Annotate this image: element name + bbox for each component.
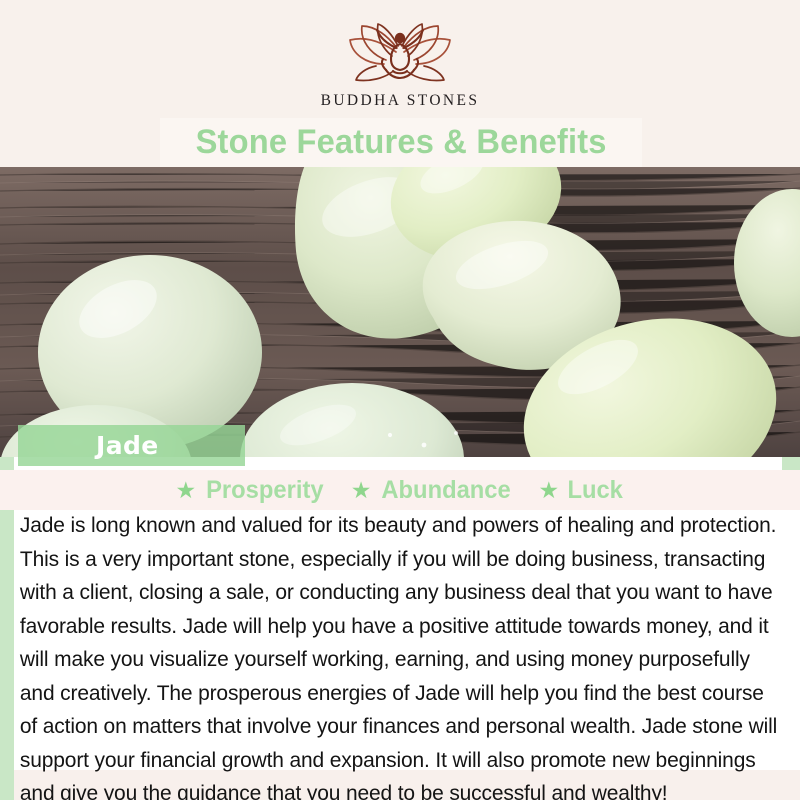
star-icon: ★: [175, 479, 196, 502]
benefit-item: ★ Prosperity: [175, 476, 326, 505]
star-icon: ★: [539, 479, 560, 502]
benefits-row: ★ Prosperity ★ Abundance ★ Luck: [0, 470, 800, 510]
benefit-item: ★ Abundance: [351, 476, 515, 505]
title-banner: Stone Features & Benefits: [160, 118, 642, 167]
brand-logo: BUDDHA STONES: [0, 22, 800, 110]
stone-photo: [0, 167, 800, 457]
description-text: Jade is long known and valued for its be…: [14, 508, 788, 800]
benefit-label: Prosperity: [206, 476, 323, 505]
lotus-meditation-icon: [336, 22, 464, 84]
benefit-item: ★ Luck: [539, 476, 625, 505]
benefit-label: Luck: [568, 476, 623, 505]
stone-name-band: Jade: [18, 425, 245, 466]
description-area: Jade is long known and valued for its be…: [14, 508, 800, 770]
star-icon: ★: [351, 479, 372, 502]
brand-name: BUDDHA STONES: [321, 92, 480, 110]
benefit-label: Abundance: [382, 476, 511, 505]
stone-photo-illustration: [0, 167, 800, 457]
page-title: Stone Features & Benefits: [195, 123, 606, 162]
poster-root: BUDDHA STONES Stone Features & Benefits: [0, 0, 800, 800]
stone-name: Jade: [96, 431, 159, 460]
